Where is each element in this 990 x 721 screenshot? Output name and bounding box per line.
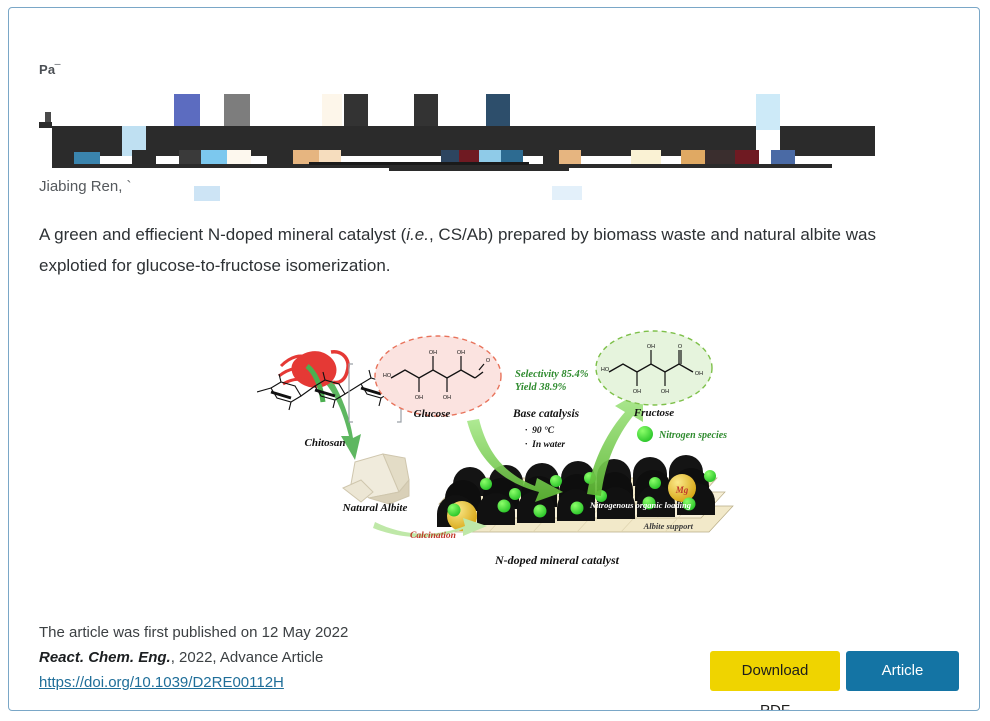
kicker-text: Pa	[39, 62, 55, 77]
redaction-block	[756, 94, 780, 130]
label-catalyst: N-doped mineral catalyst	[494, 553, 620, 567]
page-kicker: Pa‾	[39, 62, 60, 77]
mg-label: Mg	[675, 485, 689, 495]
redaction-block	[631, 150, 661, 164]
label-glucose: Glucose	[414, 408, 451, 420]
fructose-oh-1: OH	[647, 344, 655, 350]
publication-info: The article was first published on 12 Ma…	[39, 620, 348, 695]
doi-link[interactable]: https://doi.org/10.1039/D2RE00112H	[39, 674, 284, 691]
abstract-part-2: , CS/Ab) prepared by biomass waste and n…	[429, 225, 841, 244]
graphical-abstract-figure: Mg	[257, 326, 747, 581]
label-nitrogenous-loading: Nitrogenous organic loading	[589, 500, 692, 510]
citation-line: React. Chem. Eng., 2022, Advance Article	[39, 645, 348, 670]
redaction-block	[309, 162, 529, 165]
redaction-block	[705, 150, 735, 164]
glucose-oh-1: OH	[429, 350, 437, 356]
published-date: The article was first published on 12 Ma…	[39, 620, 348, 645]
journal-name: React. Chem. Eng.	[39, 649, 171, 666]
redaction-block	[552, 186, 582, 200]
abstract-part-1: A green and effiecient N-doped mineral c…	[39, 225, 406, 244]
redaction-block	[681, 150, 705, 164]
article-card: Pa‾ Jiabing Ren, ` A green and effiecien…	[8, 7, 980, 711]
legend-nitrogen-label: Nitrogen species	[658, 430, 727, 441]
redacted-title-region	[9, 86, 980, 206]
abstract-italic-ie: i.e.	[406, 225, 429, 244]
redaction-block	[45, 112, 51, 122]
article-html-button[interactable]: Article HTML	[846, 651, 959, 691]
redaction-block	[39, 122, 52, 128]
label-chitosan: Chitosan	[305, 437, 346, 449]
fructose-oh-3: OH	[661, 389, 669, 395]
glucose-o: O	[486, 358, 491, 364]
fructose-ellipse-group: OH O OH OH HO OH	[596, 331, 712, 405]
kicker-tail: ‾	[55, 62, 60, 77]
label-selectivity: Selectivity 85.4%	[515, 369, 589, 380]
label-base-catalysis: Base catalysis	[512, 408, 580, 420]
redaction-block	[771, 150, 795, 164]
citation-rest: , 2022, Advance Article	[171, 649, 324, 666]
glucose-oh-4: OH	[443, 395, 451, 401]
glucose-ho: HO	[383, 373, 392, 379]
fructose-o: O	[678, 344, 683, 350]
redaction-block	[389, 168, 569, 171]
label-calcination: Calcination	[410, 531, 456, 541]
doi-link-row: https://doi.org/10.1039/D2RE00112H	[39, 670, 348, 695]
glucose-ellipse-group: OH OH OH OH HO O	[375, 336, 501, 416]
glucose-oh-2: OH	[457, 350, 465, 356]
label-albite-support: Albite support	[643, 521, 694, 531]
label-fructose: Fructose	[633, 407, 674, 419]
fructose-oh-4: OH	[695, 371, 703, 377]
author-line: Jiabing Ren, `	[39, 178, 132, 195]
chitosan-structure-thick	[271, 388, 381, 398]
label-temp: · 90 °C	[525, 425, 555, 436]
label-yield: Yield 38.9%	[515, 382, 567, 393]
download-pdf-button[interactable]: Download PDF	[710, 651, 840, 691]
glucose-oh-3: OH	[415, 395, 423, 401]
redaction-block	[194, 186, 220, 201]
fructose-ho: HO	[601, 367, 610, 373]
redaction-block	[735, 150, 759, 164]
abstract-text: A green and effiecient N-doped mineral c…	[39, 219, 939, 281]
natural-albite-rock	[343, 454, 409, 504]
label-natural-albite: Natural Albite	[342, 502, 408, 514]
legend-nitrogen-species: Nitrogen species	[637, 426, 727, 442]
fructose-oh-2: OH	[633, 389, 641, 395]
label-water: · In water	[525, 440, 565, 450]
